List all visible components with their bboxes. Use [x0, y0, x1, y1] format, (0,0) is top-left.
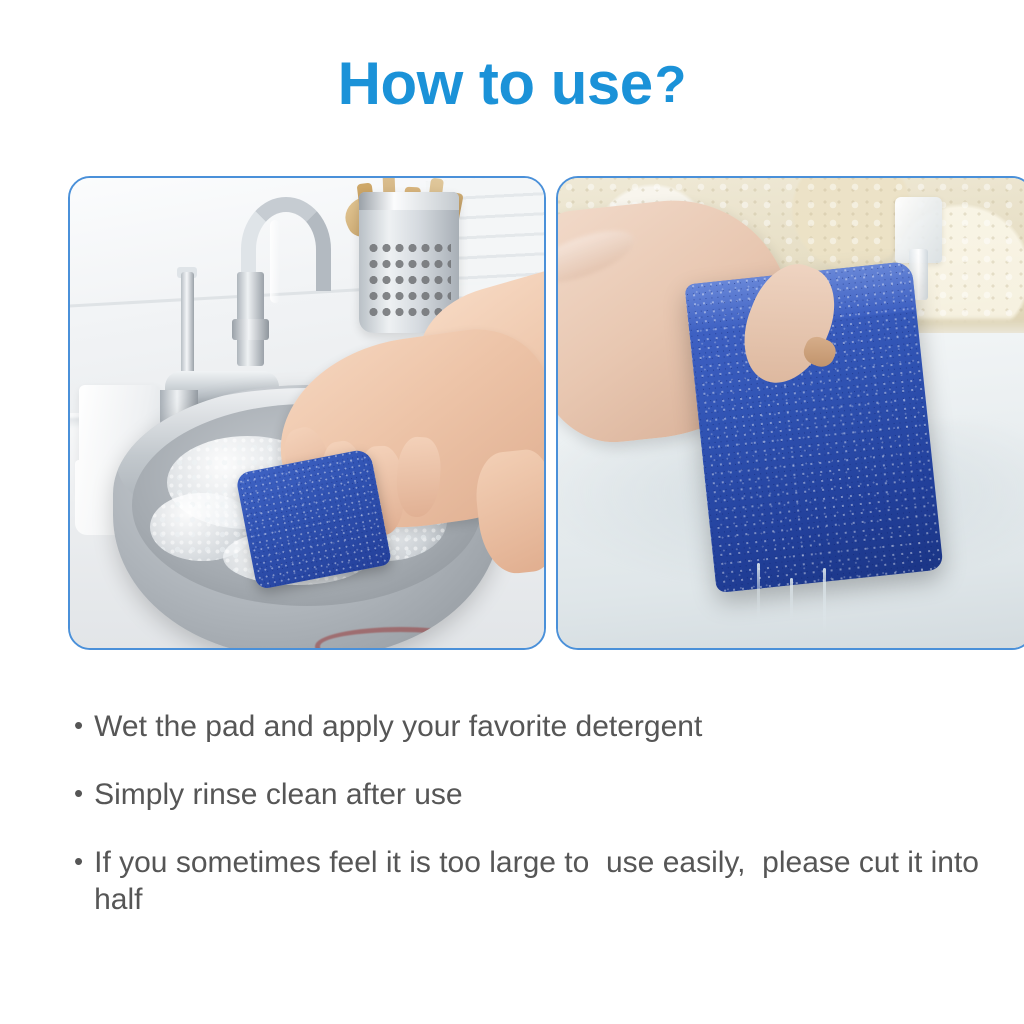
list-item: • Simply rinse clean after use [74, 776, 1004, 814]
page-title-text: How to use [338, 50, 653, 117]
water-drip [757, 563, 760, 619]
washing-pot-photo [68, 176, 546, 650]
page-title: How to use? [0, 54, 1024, 114]
list-item-text: Wet the pad and apply your favorite dete… [94, 708, 1004, 746]
list-item: • If you sometimes feel it is too large … [74, 844, 1004, 920]
bullet-icon: • [74, 708, 83, 742]
bullet-icon: • [74, 844, 83, 878]
washing-pot-photo-scene [70, 178, 544, 648]
bullet-icon: • [74, 776, 83, 810]
rinsed-pad-photo [556, 176, 1024, 650]
utensil-holder-perforations [367, 240, 451, 322]
page-title-question-mark: ? [655, 56, 687, 114]
infographic-page: How to use? [0, 0, 1024, 1024]
list-item-text: If you sometimes feel it is too large to… [94, 844, 1004, 920]
rinsed-pad-photo-scene [558, 178, 1024, 648]
list-item-text: Simply rinse clean after use [94, 776, 1004, 814]
water-drip [790, 578, 793, 620]
instructions-list: • Wet the pad and apply your favorite de… [74, 708, 1004, 919]
faucet-collar [232, 319, 269, 340]
utensil-holder-rim [359, 192, 459, 210]
list-item: • Wet the pad and apply your favorite de… [74, 708, 1004, 746]
faucet-lever [181, 272, 193, 385]
knuckle-highlight [558, 220, 640, 293]
water-drip [823, 568, 826, 634]
